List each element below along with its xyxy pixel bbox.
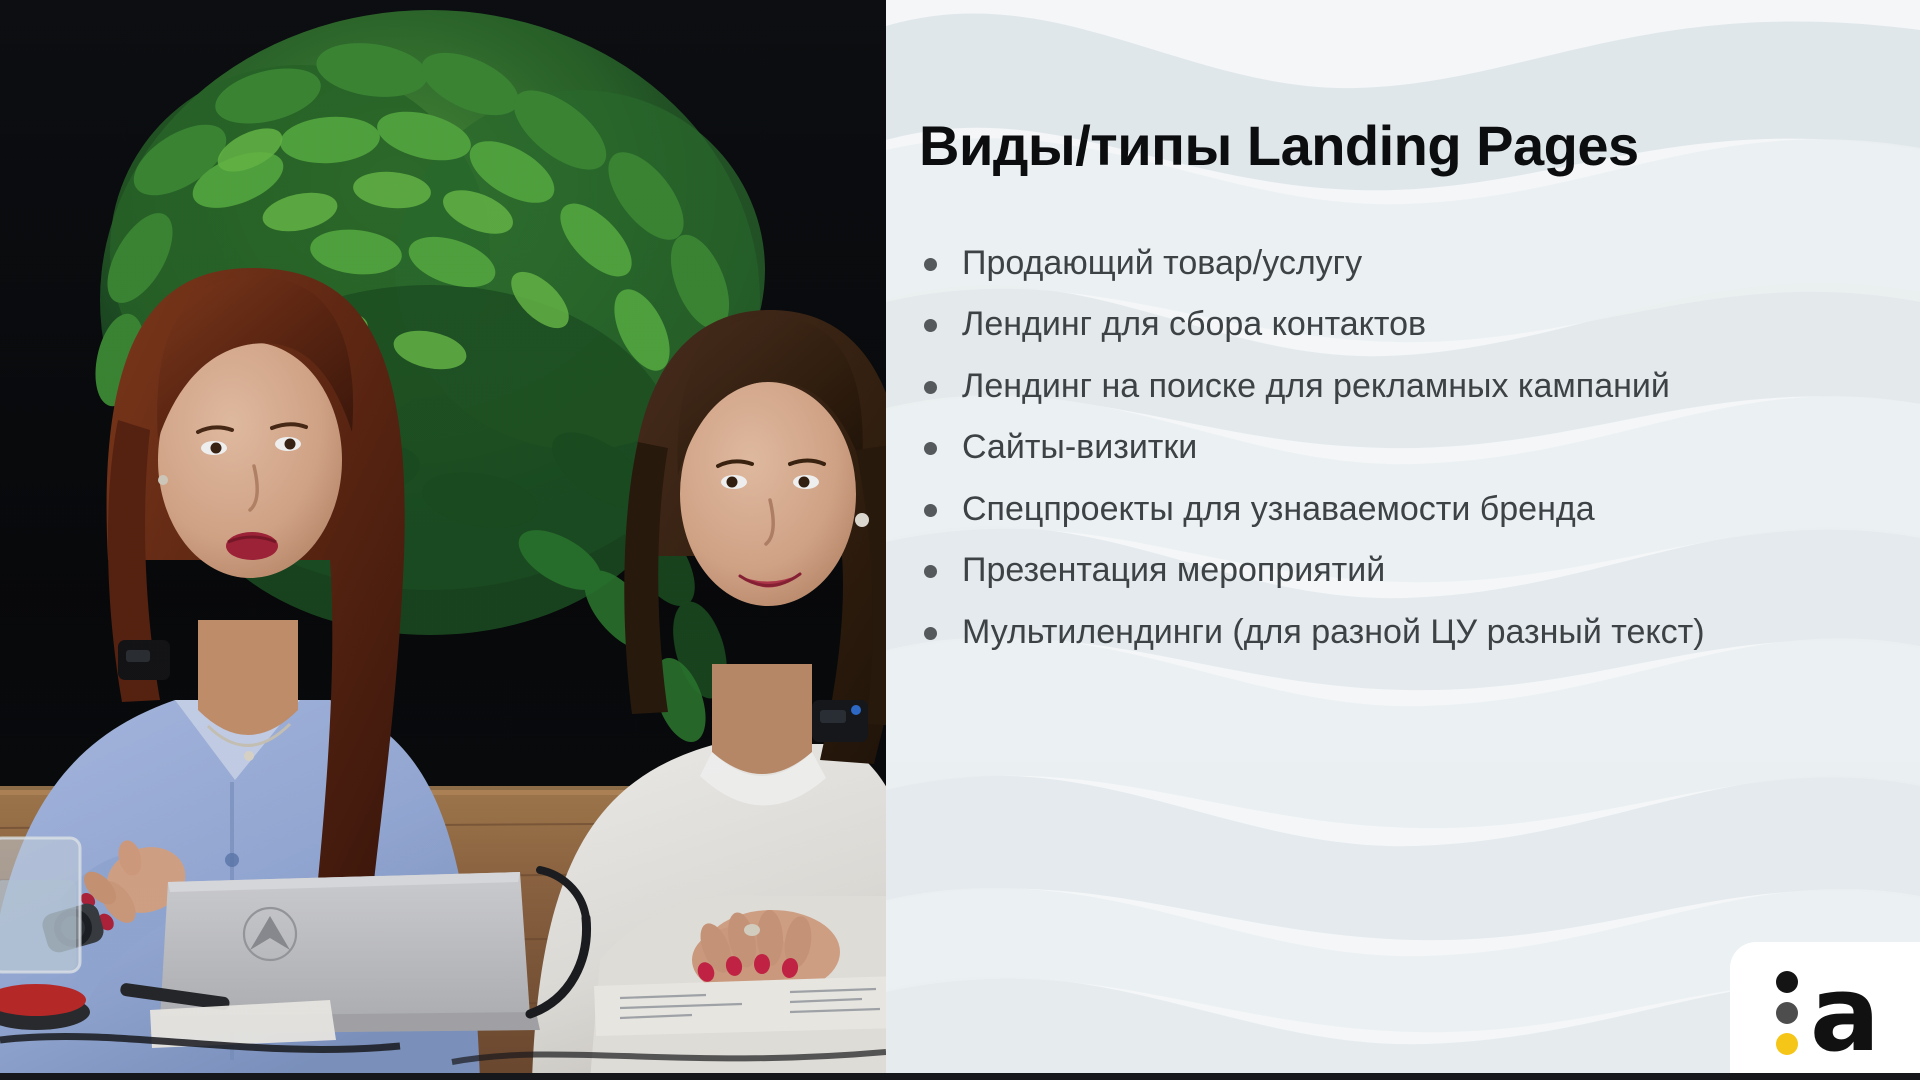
brand-logo: a <box>1730 942 1920 1080</box>
logo-letter: a <box>1810 972 1880 1057</box>
broadcast-stage: Виды/типы Landing Pages Продающий товар/… <box>0 0 1920 1080</box>
slide-content: Виды/типы Landing Pages Продающий товар/… <box>886 0 1920 1080</box>
logo-dot-black-icon <box>1776 971 1798 993</box>
list-item: Сайты-визитки <box>924 427 1889 468</box>
list-item-label: Мультилендинги (для разной ЦУ разный тек… <box>962 612 1867 653</box>
presentation-slide: Виды/типы Landing Pages Продающий товар/… <box>886 0 1920 1080</box>
bullet-dot-icon <box>924 258 937 271</box>
logo-dot-yellow-icon <box>1776 1033 1798 1055</box>
list-item: Мультилендинги (для разной ЦУ разный тек… <box>924 612 1889 653</box>
list-item-label: Лендинг для сбора контактов <box>962 304 1867 345</box>
list-item-label: Сайты-визитки <box>962 427 1867 468</box>
video-scene-illustration <box>0 0 886 1080</box>
bullet-dot-icon <box>924 627 937 640</box>
list-item-label: Продающий товар/услугу <box>962 243 1867 284</box>
list-item: Лендинг для сбора контактов <box>924 304 1889 345</box>
bullet-dot-icon <box>924 565 937 578</box>
list-item: Продающий товар/услугу <box>924 243 1889 284</box>
landing-page-types-list: Продающий товар/услугу Лендинг для сбора… <box>924 243 1889 673</box>
bullet-dot-icon <box>924 319 937 332</box>
player-bottom-edge <box>0 1073 1920 1080</box>
bullet-dot-icon <box>924 504 937 517</box>
slide-title: Виды/типы Landing Pages <box>919 113 1639 178</box>
list-item: Лендинг на поиске для рекламных кампаний <box>924 366 1889 407</box>
bullet-dot-icon <box>924 442 937 455</box>
video-feed <box>0 0 886 1080</box>
bullet-dot-icon <box>924 381 937 394</box>
logo-dot-gray-icon <box>1776 1002 1798 1024</box>
list-item: Презентация мероприятий <box>924 550 1889 591</box>
list-item-label: Спецпроекты для узнаваемости бренда <box>962 489 1867 530</box>
list-item: Спецпроекты для узнаваемости бренда <box>924 489 1889 530</box>
list-item-label: Лендинг на поиске для рекламных кампаний <box>962 366 1867 407</box>
logo-dots-group <box>1776 971 1798 1055</box>
list-item-label: Презентация мероприятий <box>962 550 1867 591</box>
